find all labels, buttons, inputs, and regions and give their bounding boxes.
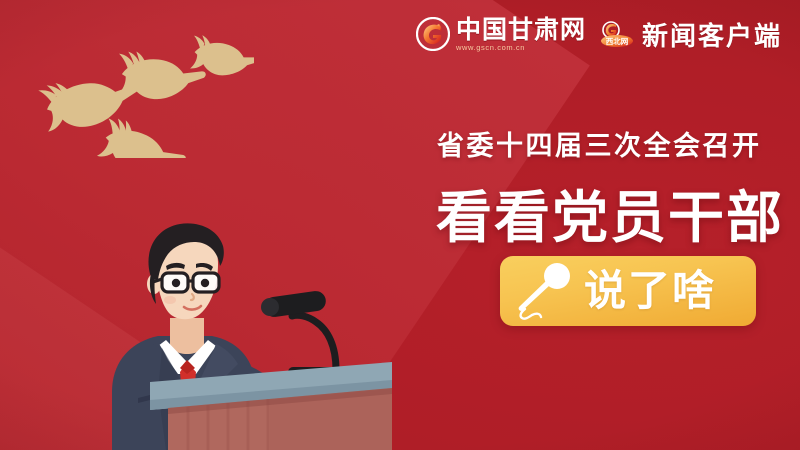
- xibei-badge-icon: 西北网: [598, 21, 636, 47]
- brand-url: www.gscn.com.cn: [456, 44, 586, 52]
- svg-text:西北网: 西北网: [606, 36, 629, 46]
- neck: [170, 318, 204, 354]
- head: [147, 223, 224, 319]
- doves-decoration: [24, 18, 254, 158]
- poster-canvas: 中国甘肃网 www.gscn.com.cn 西北网 新闻客户端: [0, 0, 800, 450]
- dove-icon: [95, 115, 191, 158]
- microphone-icon: [512, 260, 578, 322]
- brand-name: 中国甘肃网: [456, 17, 586, 42]
- headline-title: 看看党员干部: [436, 173, 784, 254]
- news-client-logo[interactable]: 西北网 新闻客户端: [598, 16, 782, 53]
- speaker-illustration: [92, 222, 392, 450]
- cta-button[interactable]: 说了啥: [500, 256, 756, 326]
- brand-logo-bar[interactable]: 中国甘肃网 www.gscn.com.cn 西北网 新闻客户端: [416, 14, 782, 54]
- gansu-net-wordmark: 中国甘肃网 www.gscn.com.cn: [456, 17, 586, 52]
- gansu-net-logo[interactable]: 中国甘肃网 www.gscn.com.cn: [416, 17, 586, 52]
- app-name: 新闻客户端: [642, 16, 782, 53]
- headline-subtitle: 省委十四届三次全会召开: [437, 124, 762, 163]
- cta-label: 说了啥: [584, 270, 716, 312]
- gansu-circle-logo-icon: [416, 17, 450, 51]
